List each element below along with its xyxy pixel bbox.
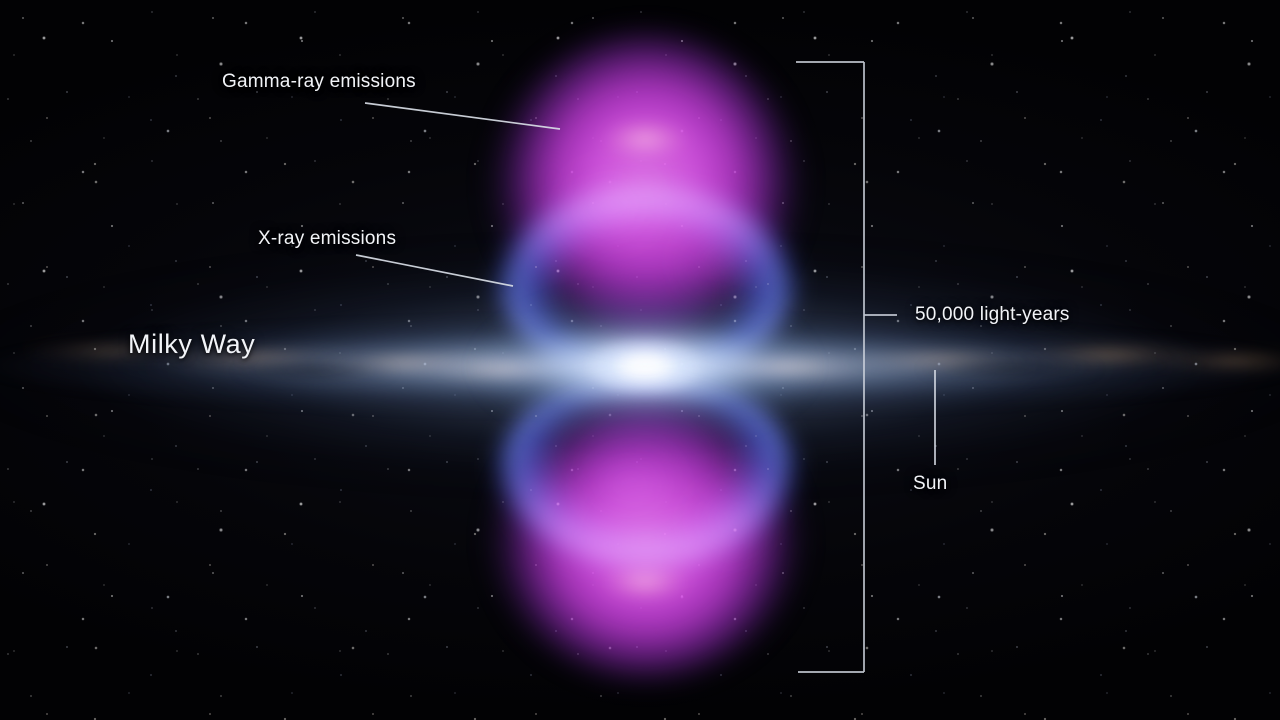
dark-dust-lane [200,362,430,380]
milky-way-label: Milky Way [128,329,255,360]
xray-label: X-ray emissions [258,228,396,250]
dark-dust-lane [880,360,1140,378]
interior-knot-south [600,562,690,602]
gamma-ray-label: Gamma-ray emissions [222,71,416,93]
scale-label: 50,000 light-years [915,304,1070,326]
interior-knot-north [600,118,690,160]
xray-emission-rim-north [489,150,803,380]
fermi-bubbles-illustration: Gamma-ray emissions X-ray emissions Milk… [0,0,1280,720]
sun-label: Sun [913,473,947,495]
